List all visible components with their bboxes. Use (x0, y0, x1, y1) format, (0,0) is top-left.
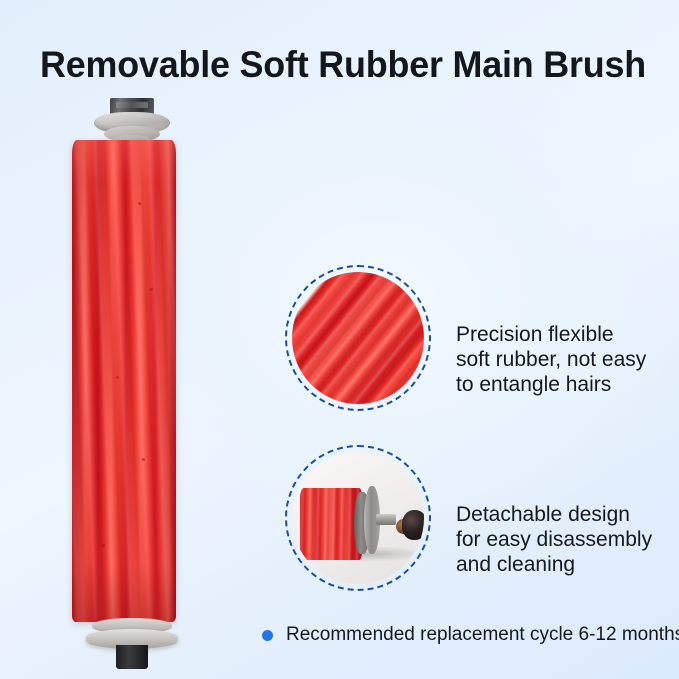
roller-speck (150, 288, 153, 291)
callout-caption-1: Precision flexible soft rubber, not easy… (456, 322, 671, 397)
callout-circle-soft-rubber (285, 265, 431, 411)
dashed-ring-2 (285, 445, 431, 591)
bullet-dot-icon (262, 630, 273, 641)
roller-speck (102, 544, 105, 547)
red-rubber-roller (72, 140, 176, 622)
brush-bottom-hub (60, 618, 200, 674)
replacement-cycle-note: Recommended replacement cycle 6-12 month… (262, 624, 679, 646)
dashed-ring-1 (285, 265, 431, 411)
main-brush-illustration (60, 96, 200, 666)
brush-top-hub (60, 96, 200, 142)
product-feature-page: Removable Soft Rubber Main Brush (0, 0, 679, 679)
replacement-cycle-text: Recommended replacement cycle 6-12 month… (286, 624, 679, 646)
brush-bottom-end-post (116, 645, 148, 669)
page-title: Removable Soft Rubber Main Brush (40, 44, 641, 86)
roller-speck (138, 202, 141, 205)
roller-speck (116, 376, 119, 379)
roller-speck (142, 458, 145, 461)
callout-circle-detachable (285, 445, 431, 591)
callout-caption-2: Detachable design for easy disassembly a… (456, 502, 671, 577)
